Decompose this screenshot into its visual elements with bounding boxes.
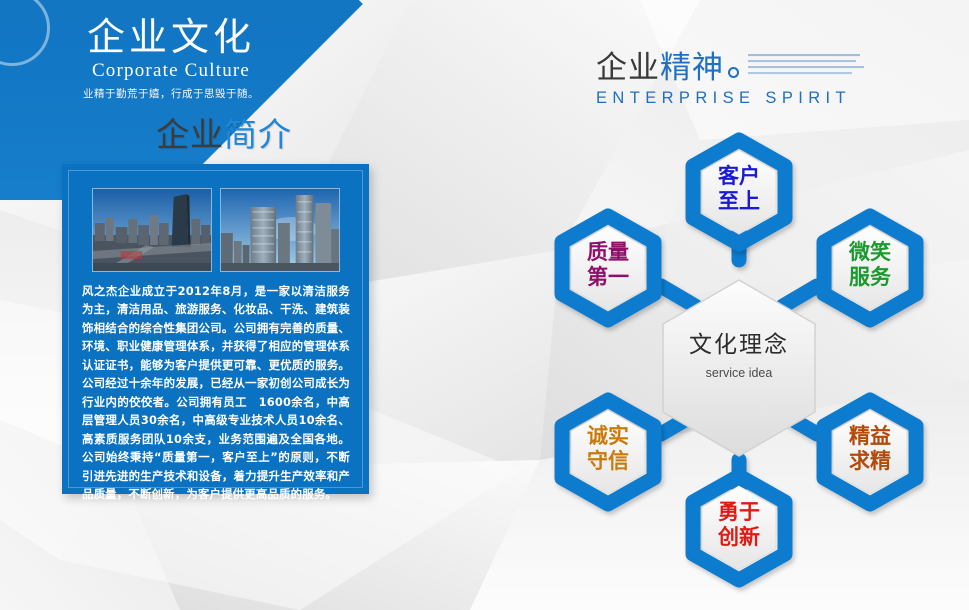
decorative-microtext [748,52,866,82]
intro-heading-dark: 企业 [156,115,224,154]
spirit-heading: 企业精神 ENTERPRISE SPIRIT [596,52,906,108]
poster-canvas: 企业文化 Corporate Culture 业精于勤荒于嬉，行成于思毁于随。 … [0,0,969,610]
banner-title-en: Corporate Culture [36,60,306,82]
spirit-heading-en: ENTERPRISE SPIRIT [596,89,906,108]
company-intro-card: 风之杰企业成立于2012年8月，是一家以清洁服务为主，清洁用品、旅游服务、化妆品… [62,164,369,494]
company-intro-text: 风之杰企业成立于2012年8月，是一家以清洁服务为主，清洁用品、旅游服务、化妆品… [82,282,350,504]
city-skyline-photo [92,188,212,272]
hex-diagram-svg [490,110,969,610]
spirit-heading-dark: 企业 [596,50,660,86]
skyscraper-photo [220,188,340,272]
photo-strip [92,188,340,270]
intro-heading-blue: 简介 [224,115,292,154]
spirit-heading-blue: 精神 [660,50,724,86]
spirit-dot-icon [728,67,739,78]
banner-text-group: 企业文化 Corporate Culture 业精于勤荒于嬉，行成于思毁于随。 [36,18,306,101]
culture-hex-diagram: 客户 至上 质量 第一 微笑 服务 诚实 守信 精益 求精 勇于 创新 文化理念… [490,110,969,610]
spirit-heading-cn: 企业精神 [596,53,724,84]
banner-title-cn: 企业文化 [36,18,306,58]
banner-subtitle: 业精于勤荒于嬉，行成于思毁于随。 [36,86,306,101]
intro-heading: 企业简介 [156,118,292,151]
